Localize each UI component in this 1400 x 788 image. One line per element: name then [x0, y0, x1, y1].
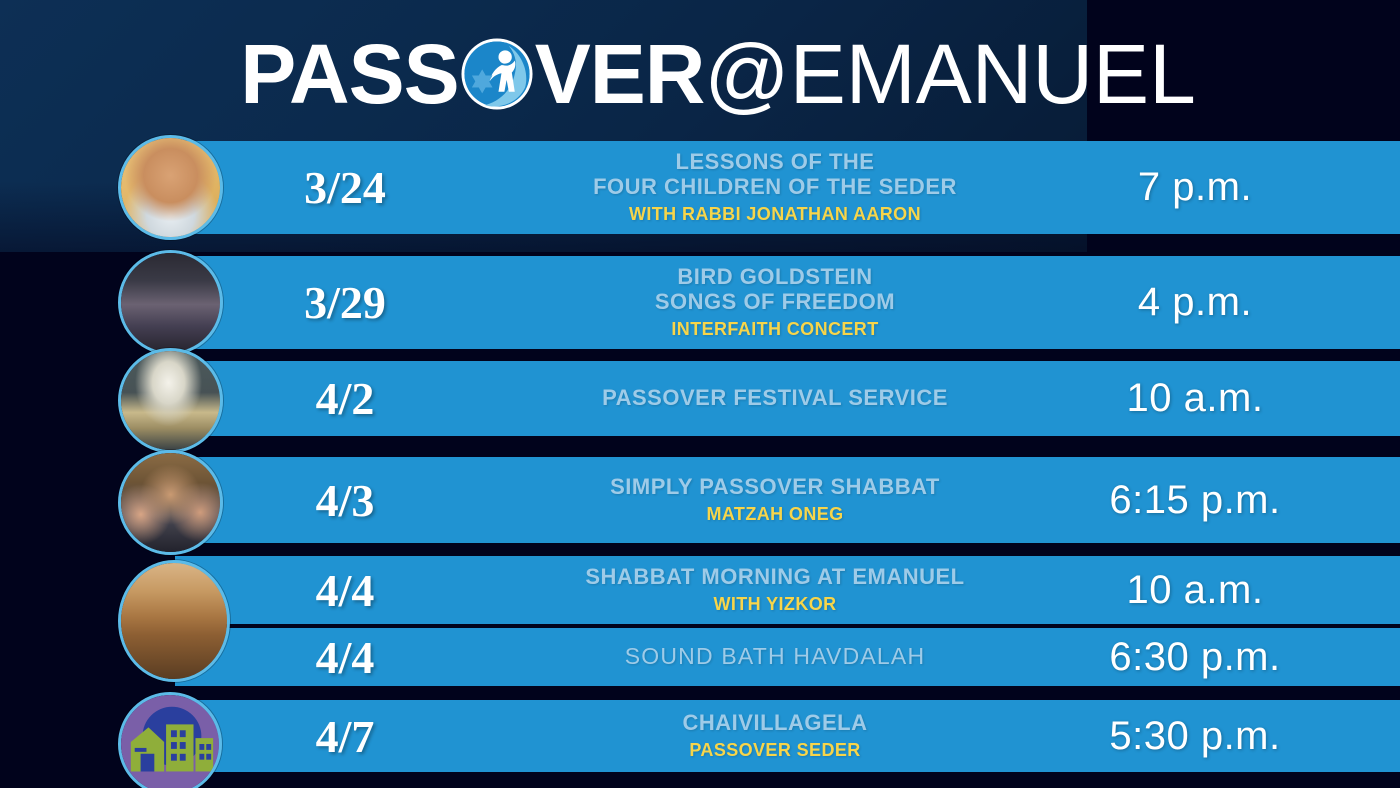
event-info: SOUND BATH HAVDALAH [475, 644, 1075, 670]
event-date: 4/2 [250, 372, 440, 425]
event-time: 10 a.m. [1055, 568, 1335, 613]
event-title-line1: CHAIVILLAGELA [475, 711, 1075, 736]
event-info: PASSOVER FESTIVAL SERVICE [475, 386, 1075, 411]
avatar [118, 692, 222, 788]
event-date: 4/4 [250, 564, 440, 617]
event-subtitle: MATZAH ONEG [475, 504, 1075, 525]
candle-sanctuary-photo [121, 351, 220, 450]
event-subtitle: INTERFAITH CONCERT [475, 319, 1075, 340]
avatar [118, 250, 223, 355]
schedule-row[interactable]: 4/2 PASSOVER FESTIVAL SERVICE 10 a.m. [175, 361, 1400, 436]
event-subtitle: WITH RABBI JONATHAN AARON [475, 204, 1075, 225]
event-time: 10 a.m. [1055, 376, 1335, 421]
schedule-row[interactable]: 4/3 SIMPLY PASSOVER SHABBAT MATZAH ONEG … [175, 457, 1400, 543]
torah-ark-photo [121, 563, 227, 679]
schedule-row[interactable]: 3/24 LESSONS OF THE FOUR CHILDREN OF THE… [175, 141, 1400, 234]
title-at-emanuel: @EMANUEL [704, 32, 1195, 116]
event-subtitle: WITH YIZKOR [475, 594, 1075, 615]
schedule-row[interactable]: 3/29 BIRD GOLDSTEIN SONGS OF FREEDOM INT… [175, 256, 1400, 349]
event-title-line1: SOUND BATH HAVDALAH [475, 644, 1075, 670]
title-passover-part2: VER [535, 32, 705, 116]
schedule-row[interactable]: 4/4 SHABBAT MORNING AT EMANUEL WITH YIZK… [175, 556, 1400, 624]
page-title: PASS VER @EMANUEL [240, 32, 1196, 116]
event-time: 7 p.m. [1055, 165, 1335, 210]
event-date: 4/3 [250, 474, 440, 527]
event-title-line1: LESSONS OF THE [475, 150, 1075, 175]
event-date: 4/7 [250, 710, 440, 763]
event-title-line1: SHABBAT MORNING AT EMANUEL [475, 565, 1075, 590]
title-passover-part1: PASS [240, 32, 459, 116]
family-photo [121, 453, 220, 552]
avatar [118, 135, 223, 240]
schedule-row[interactable]: 4/7 CHAIVILLAGELA PASSOVER SEDER 5:30 p.… [175, 700, 1400, 772]
congregation-concert-photo [121, 253, 220, 352]
rabbi-jonathan-aaron-photo [121, 138, 220, 237]
event-date: 4/4 [250, 631, 440, 684]
avatar [118, 450, 223, 555]
avatar [118, 348, 223, 453]
event-info: CHAIVILLAGELA PASSOVER SEDER [475, 711, 1075, 762]
event-info: BIRD GOLDSTEIN SONGS OF FREEDOM INTERFAI… [475, 265, 1075, 340]
event-info: SIMPLY PASSOVER SHABBAT MATZAH ONEG [475, 475, 1075, 526]
passover-schedule-graphic: PASS VER @EMANUEL 3/24 LESS [0, 0, 1400, 788]
chaivillagela-house-buildings-icon [121, 695, 219, 788]
avatar [118, 560, 230, 682]
emanuel-star-figure-logo-icon [460, 37, 534, 111]
event-time: 6:15 p.m. [1055, 478, 1335, 523]
event-title-line1: PASSOVER FESTIVAL SERVICE [475, 386, 1075, 411]
event-info: SHABBAT MORNING AT EMANUEL WITH YIZKOR [475, 565, 1075, 616]
event-time: 5:30 p.m. [1055, 714, 1335, 759]
event-time: 4 p.m. [1055, 280, 1335, 325]
event-title-line2: FOUR CHILDREN OF THE SEDER [475, 175, 1075, 200]
event-title-line1: SIMPLY PASSOVER SHABBAT [475, 475, 1075, 500]
event-subtitle: PASSOVER SEDER [475, 740, 1075, 761]
event-date: 3/29 [250, 276, 440, 329]
event-title-line2: SONGS OF FREEDOM [475, 290, 1075, 315]
event-info: LESSONS OF THE FOUR CHILDREN OF THE SEDE… [475, 150, 1075, 225]
event-time: 6:30 p.m. [1055, 635, 1335, 680]
schedule-row[interactable]: 4/4 SOUND BATH HAVDALAH 6:30 p.m. [175, 628, 1400, 686]
event-date: 3/24 [250, 161, 440, 214]
event-title-line1: BIRD GOLDSTEIN [475, 265, 1075, 290]
header: PASS VER @EMANUEL [0, 24, 1400, 124]
